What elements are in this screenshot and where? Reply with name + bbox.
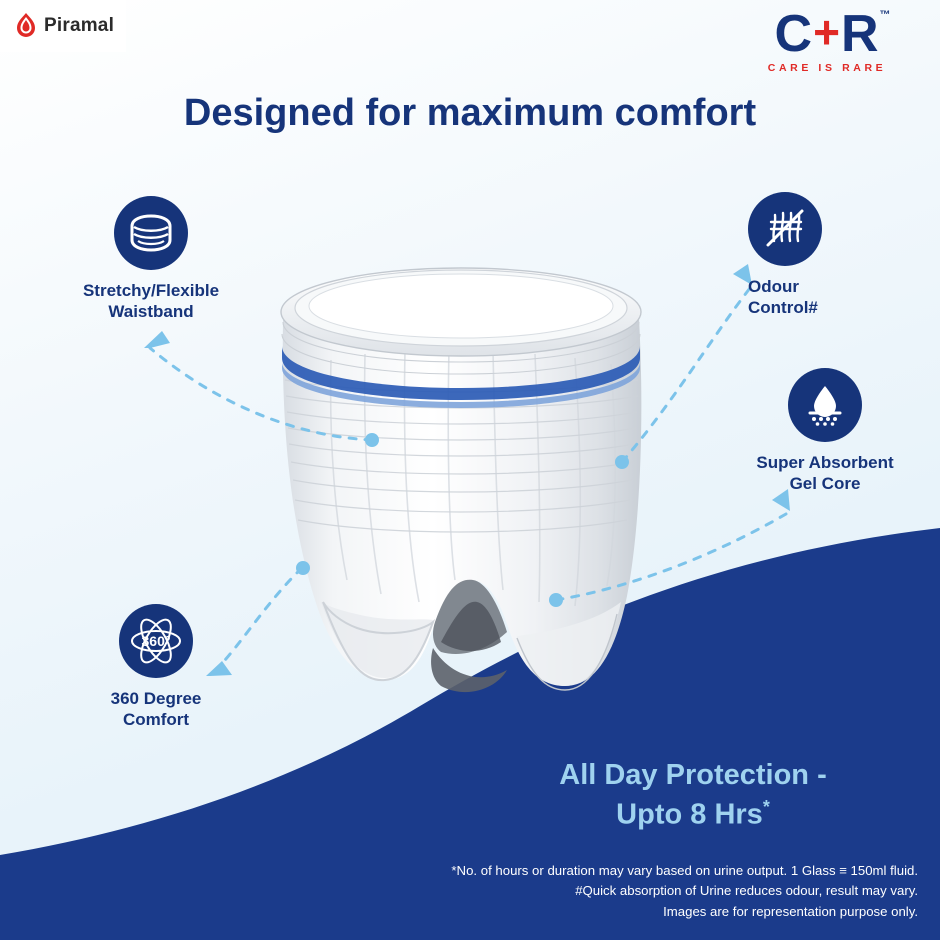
360-badge-text: 360° — [142, 633, 171, 649]
connector-dot-360 — [296, 561, 310, 575]
promo-banner: Piramal C+R ™ CARE IS RARE Designed for … — [0, 0, 940, 940]
feature-odour-control: Odour Control# — [748, 192, 898, 319]
feature-360-degree-comfort: 360° 360 Degree Comfort — [72, 604, 240, 731]
connector-dot-odour — [615, 455, 629, 469]
feature-super-absorbent-gel-core: Super Absorbent Gel Core — [730, 368, 920, 495]
feature-label: Stretchy/Flexible Waistband — [46, 280, 256, 323]
disclaimer-line-2: #Quick absorption of Urine reduces odour… — [300, 881, 918, 901]
disclaimer: *No. of hours or duration may vary based… — [300, 861, 918, 922]
promo-line-1: All Day Protection - — [470, 756, 916, 795]
disclaimer-line-3: Images are for representation purpose on… — [300, 902, 918, 922]
odour-control-icon — [748, 192, 822, 266]
arrowhead-waistband — [144, 331, 170, 348]
connector-dot-waistband — [365, 433, 379, 447]
waistband-icon — [114, 196, 188, 270]
disclaimer-line-1: *No. of hours or duration may vary based… — [300, 861, 918, 881]
promo-line-2-text: Upto 8 Hrs — [616, 799, 763, 831]
feature-label: 360 Degree Comfort — [72, 688, 240, 731]
360-comfort-icon: 360° — [119, 604, 193, 678]
connector-waistband — [150, 348, 372, 440]
promo-line-2: Upto 8 Hrs* — [470, 795, 916, 835]
promo-asterisk: * — [763, 797, 770, 817]
feature-label: Super Absorbent Gel Core — [730, 452, 920, 495]
gel-core-droplet-icon — [788, 368, 862, 442]
connector-dot-gel — [549, 593, 563, 607]
feature-stretchy-waistband: Stretchy/Flexible Waistband — [46, 196, 256, 323]
connector-gel — [556, 514, 786, 600]
feature-label: Odour Control# — [748, 276, 898, 319]
promo-text: All Day Protection - Upto 8 Hrs* — [470, 756, 916, 835]
